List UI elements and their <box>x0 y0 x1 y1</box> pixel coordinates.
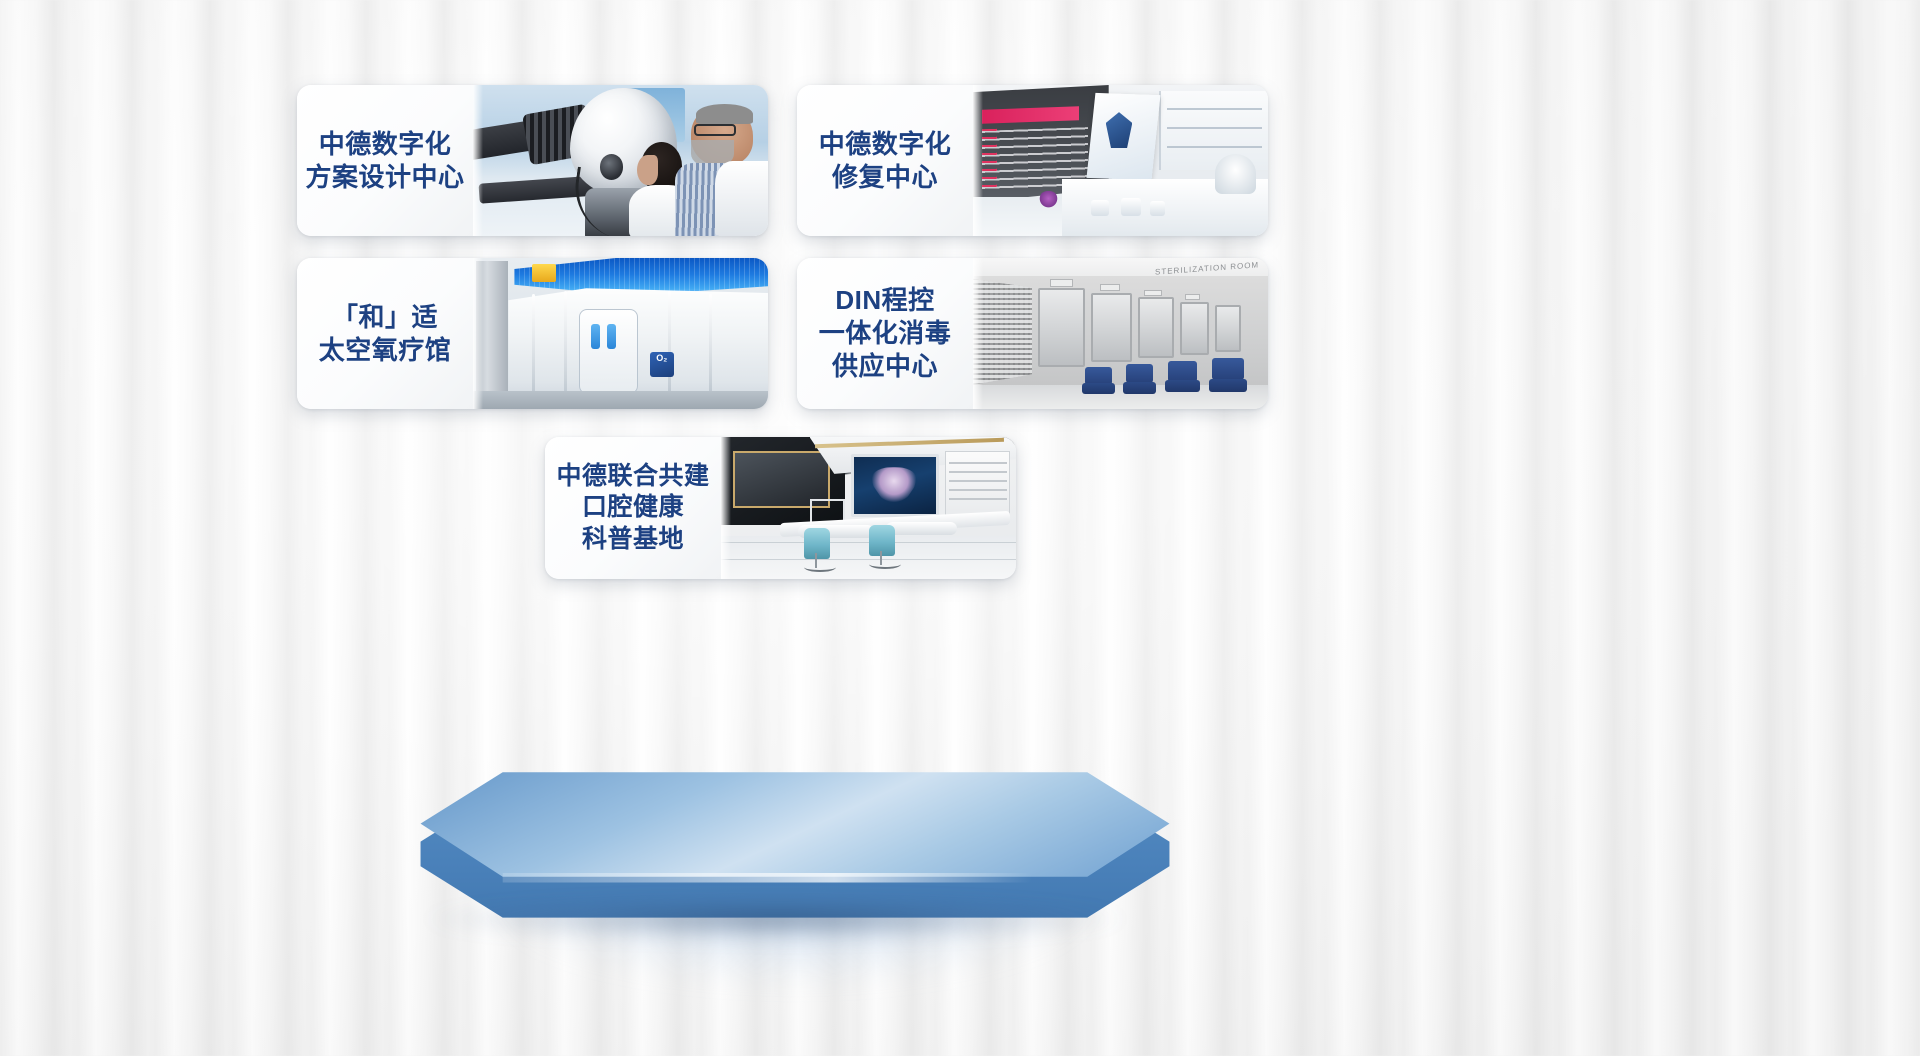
wall-banner <box>982 106 1079 123</box>
card-label-digital-restoration-center: 中德数字化 修复中心 <box>797 85 973 236</box>
card-label-line: 中德数字化 <box>319 128 452 161</box>
dental-scanner-clinicians-photo <box>473 85 768 236</box>
card-label-din-sterilization-center: DIN程控 一体化消毒 供应中心 <box>797 258 973 409</box>
card-label-line: 中德联合共建 <box>556 461 709 493</box>
card-label-oxygen-therapy-hall: 「和」适 太空氧疗馆 <box>297 258 473 409</box>
door-indicator-left <box>591 324 600 348</box>
card-label-line: 太空氧疗馆 <box>319 334 452 367</box>
sterilization-supply-corridor-photo: STERILIZATION ROOM <box>973 258 1268 409</box>
card-label-line: 一体化消毒 <box>819 317 952 350</box>
card-label-line: 中德数字化 <box>819 128 952 161</box>
card-label-line: 供应中心 <box>832 350 938 383</box>
digital-restoration-showroom-photo <box>973 85 1268 236</box>
platform-drop-shadow <box>420 898 1130 940</box>
display-shelving <box>1159 91 1268 170</box>
card-oral-health-science-base[interactable]: 中德联合共建 口腔健康 科普基地 <box>545 437 1016 579</box>
oxygen-badge: O₂ <box>650 352 674 378</box>
dental-arch-graphic <box>872 467 917 502</box>
wall-bullet-marks <box>982 129 997 190</box>
door-indicator-right <box>607 324 616 348</box>
card-label-line: 修复中心 <box>832 161 938 194</box>
card-label-digital-design-center: 中德数字化 方案设计中心 <box>297 85 473 236</box>
chamber-door <box>579 309 638 394</box>
chamber-floor <box>473 391 768 409</box>
card-label-line: 科普基地 <box>582 524 684 556</box>
scanner-cable <box>569 166 631 236</box>
orchid-plant <box>1038 191 1059 211</box>
card-label-oral-health-science-base: 中德联合共建 口腔健康 科普基地 <box>545 437 721 579</box>
digital-dental-science-base-render <box>721 437 1016 579</box>
eyeglasses-icon <box>694 124 736 136</box>
large-display-screen <box>851 454 940 516</box>
card-din-sterilization-center[interactable]: DIN程控 一体化消毒 供应中心 STERILIZATION ROOM <box>797 258 1268 409</box>
showroom-stool <box>1215 154 1256 193</box>
card-label-line: 方案设计中心 <box>305 161 464 194</box>
led-accent-block <box>532 264 556 282</box>
info-side-panel <box>945 451 1010 516</box>
card-label-line: 「和」适 <box>332 301 438 334</box>
stage-platform <box>380 700 1210 1030</box>
card-label-line: 口腔健康 <box>582 492 684 524</box>
hyperbaric-oxygen-chamber-photo: O₂ <box>473 258 768 409</box>
clinician-male <box>674 106 768 236</box>
card-label-line: DIN程控 <box>835 284 934 317</box>
card-digital-design-center[interactable]: 中德数字化 方案设计中心 <box>297 85 768 236</box>
card-oxygen-therapy-hall[interactable]: 「和」适 太空氧疗馆 O₂ <box>297 258 768 409</box>
card-digital-restoration-center[interactable]: 中德数字化 修复中心 <box>797 85 1268 236</box>
